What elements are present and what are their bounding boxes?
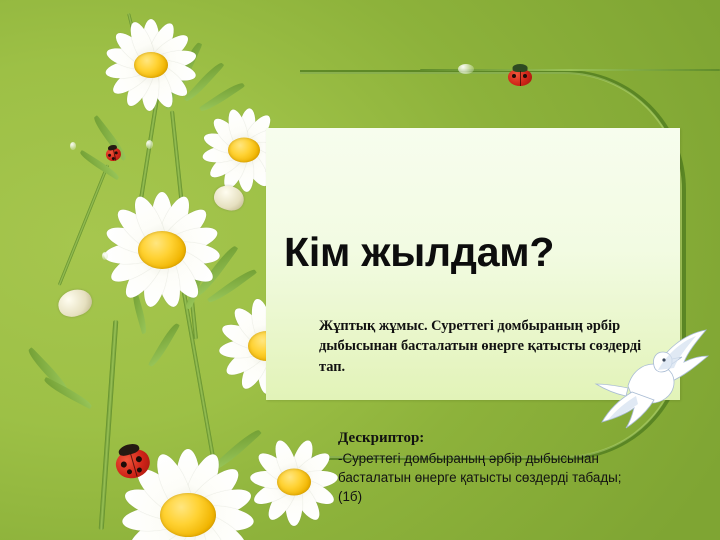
descriptor-block: Дескриптор: -Суреттегі домбыраның әрбір … [338,428,668,506]
daisy-flower [234,430,354,534]
daisy-center [160,493,216,537]
daisy-center [277,469,311,496]
daisy-flower-cluster [0,0,286,540]
ladybug-wing-split [520,71,521,86]
dew-drop [458,64,474,74]
ladybug-spot [523,74,527,78]
ladybug-icon [508,69,532,86]
dew-drop [146,140,153,149]
dew-drop [102,252,108,260]
descriptor-line: басталатын өнерге қатысты сөздерді табад… [338,468,668,487]
ladybug-icon [105,147,122,163]
ladybug-spot [512,74,516,78]
page-title: Кім жылдам? [284,232,668,273]
daisy-center [134,52,168,78]
flower-leaf [148,321,180,368]
descriptor-line: -Суреттегі домбыраның әрбір дыбысынан [338,449,668,468]
descriptor-heading: Дескриптор: [338,428,668,449]
daisy-center [228,138,260,163]
slide-canvas: Кім жылдам? Жұптық жұмыс. Суреттегі домб… [0,0,720,540]
dove-eye [662,358,665,361]
dove-icon [592,326,710,430]
descriptor-line: (1б) [338,487,668,506]
dew-drop [70,142,76,150]
flower-leaf [42,377,93,409]
daisy-center [138,231,186,269]
